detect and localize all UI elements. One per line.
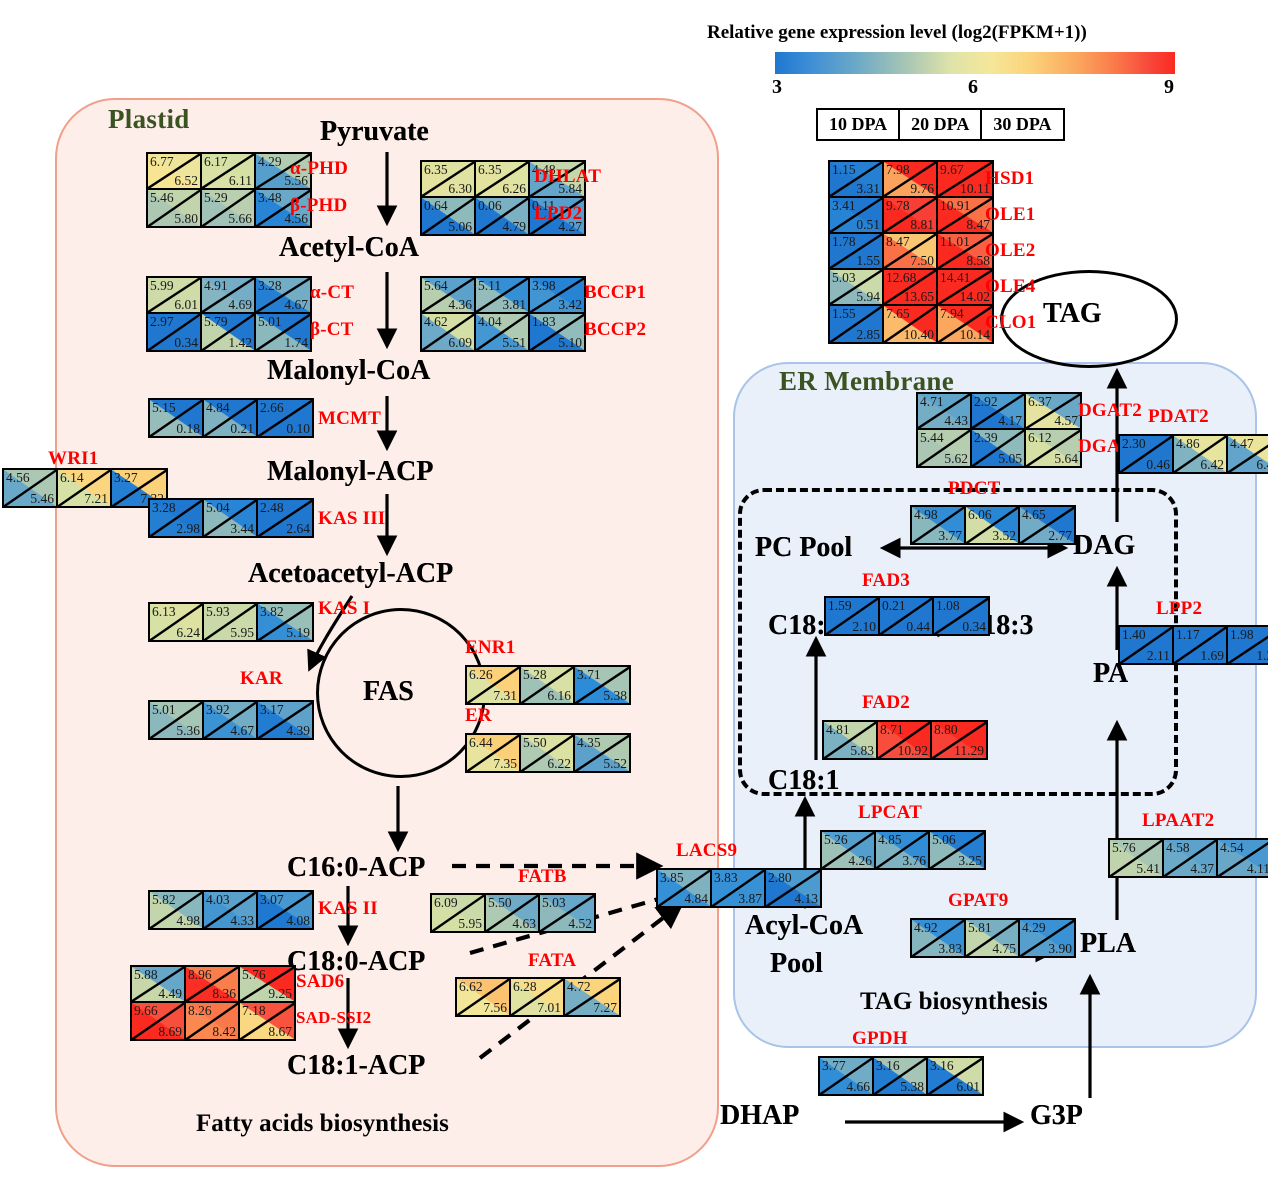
cell-value-lower: 0.46	[1146, 457, 1170, 472]
heatmap-block-ct[interactable]: 5.996.014.914.693.284.672.970.345.791.42…	[146, 276, 312, 352]
heatmap-cell[interactable]: 4.544.11	[1218, 840, 1268, 876]
heatmap-cell[interactable]: 8.7110.92	[878, 722, 932, 758]
cell-value-upper: 1.17	[1176, 627, 1200, 642]
heatmap-cell[interactable]: 3.174.39	[258, 702, 312, 738]
heatmap-row: 5.264.264.853.765.063.25	[822, 832, 984, 868]
cell-value-lower: 6.09	[448, 335, 472, 350]
heatmap-cell[interactable]: 7.6510.40	[884, 306, 938, 342]
cell-value-lower: 3.42	[558, 297, 582, 312]
cell-value-upper: 3.48	[258, 190, 282, 205]
cell-value-upper: 9.66	[134, 1003, 158, 1018]
cell-value-upper: 5.99	[150, 278, 174, 293]
cell-value-upper: 4.86	[1176, 436, 1200, 451]
cell-value-lower: 6.49	[1256, 457, 1268, 472]
heatmap-block-fad2[interactable]: 4.815.838.7110.928.8011.29	[822, 720, 988, 760]
metabolite-acyl-coa: Acyl-CoA	[745, 910, 863, 942]
heatmap-grid: 5.150.184.840.212.660.10	[148, 398, 314, 438]
cell-value-lower: 0.10	[286, 421, 310, 436]
cell-value-upper: 4.85	[878, 832, 902, 847]
heatmap-cell[interactable]: 0.645.06	[422, 198, 476, 234]
heatmap-block-wri1[interactable]: 4.565.466.147.213.277.32	[2, 468, 168, 508]
stage-cell-30dpa: 30 DPA	[982, 110, 1062, 139]
heatmap-cell[interactable]: 1.080.34	[934, 598, 988, 634]
heatmap-cell[interactable]: 5.506.22	[521, 735, 575, 771]
heatmap-cell[interactable]: 3.924.67	[204, 702, 258, 738]
cell-value-upper: 12.68	[886, 270, 916, 285]
heatmap-cell[interactable]: 5.814.75	[966, 920, 1020, 956]
cell-value-upper: 5.01	[152, 702, 176, 717]
cell-value-upper: 3.82	[260, 604, 284, 619]
cell-value-upper: 5.15	[152, 400, 176, 415]
heatmap-cell[interactable]: 4.034.33	[204, 892, 258, 928]
heatmap-cell[interactable]: 4.923.83	[912, 920, 966, 956]
metabolite-c18-1-acp: C18:1-ACP	[287, 1050, 425, 1082]
heatmap-cell[interactable]: 2.482.64	[258, 500, 312, 536]
heatmap-block-dgat[interactable]: 4.714.432.924.176.374.575.445.622.395.05…	[916, 392, 1082, 468]
heatmap-cell[interactable]: 4.853.76	[876, 832, 930, 868]
cell-value-upper: 3.17	[260, 702, 284, 717]
gene-label-phd: β-PHD	[290, 195, 347, 217]
cell-value-upper: 8.71	[880, 722, 904, 737]
heatmap-cell[interactable]: 7.989.76	[884, 162, 938, 198]
heatmap-cell[interactable]: 4.652.77	[1020, 507, 1074, 543]
cell-value-upper: 2.48	[260, 500, 284, 515]
cell-value-upper: 6.17	[204, 154, 228, 169]
heatmap-cell[interactable]: 6.063.52	[966, 507, 1020, 543]
stage-cell-20dpa: 20 DPA	[900, 110, 982, 139]
cell-value-lower: 1.69	[1200, 648, 1224, 663]
cell-value-lower: 3.25	[958, 853, 982, 868]
heatmap-cell[interactable]: 7.188.67	[240, 1003, 294, 1039]
cell-value-lower: 5.52	[603, 756, 627, 771]
cell-value-upper: 4.92	[914, 920, 938, 935]
heatmap-cell[interactable]: 3.166.01	[928, 1058, 982, 1094]
cell-value-upper: 11.01	[940, 234, 970, 249]
heatmap-cell[interactable]: 4.626.09	[422, 314, 476, 350]
heatmap-row: 2.970.345.791.425.011.74	[148, 314, 310, 350]
cell-value-lower: 4.43	[944, 413, 968, 428]
heatmap-cell[interactable]: 5.113.81	[476, 278, 530, 314]
cell-value-lower: 3.52	[992, 528, 1016, 543]
metabolite-pla: PLA	[1080, 928, 1136, 960]
heatmap-block-lpcat[interactable]: 5.264.264.853.765.063.25	[820, 830, 986, 870]
cell-value-lower: 1.74	[284, 335, 308, 350]
heatmap-cell[interactable]: 5.286.16	[521, 667, 575, 703]
heatmap-cell[interactable]: 4.727.27	[565, 979, 619, 1015]
metabolite-dhap: DHAP	[720, 1100, 799, 1132]
heatmap-grid: 1.402.111.171.691.981.24	[1118, 625, 1268, 665]
cell-value-lower: 4.11	[1247, 861, 1268, 876]
heatmap-block-lpp2[interactable]: 1.402.111.171.691.981.24	[1118, 625, 1268, 665]
heatmap-cell[interactable]: 2.924.17	[972, 394, 1026, 430]
cell-value-lower: 5.10	[558, 335, 582, 350]
gene-label-sad6: SAD6	[296, 971, 344, 993]
heatmap-cell[interactable]: 1.835.10	[530, 314, 584, 350]
gene-label-ct: β-CT	[310, 319, 354, 341]
heatmap-cell[interactable]: 4.355.52	[575, 735, 629, 771]
cell-value-upper: 6.09	[434, 895, 458, 910]
cell-value-upper: 3.41	[832, 198, 856, 213]
heatmap-grid: 4.714.432.924.176.374.575.445.622.395.05…	[916, 392, 1082, 468]
cell-value-lower: 4.84	[684, 891, 708, 906]
cell-value-lower: 1.24	[1256, 648, 1268, 663]
heatmap-cell[interactable]: 5.295.66	[202, 190, 256, 226]
heatmap-block-fatb[interactable]: 6.095.955.504.635.034.52	[430, 893, 596, 933]
heatmap-cell[interactable]: 3.282.98	[150, 500, 204, 536]
cell-value-lower: 5.46	[30, 491, 54, 506]
cell-value-lower: 8.69	[158, 1024, 182, 1039]
heatmap-grid: 6.447.355.506.224.355.52	[465, 733, 631, 773]
cell-value-lower: 5.94	[856, 289, 880, 304]
cell-value-upper: 5.76	[1112, 840, 1136, 855]
cell-value-lower: 4.52	[568, 916, 592, 931]
heatmap-cell[interactable]: 6.356.26	[476, 162, 530, 198]
gene-label-fata: FATA	[528, 950, 576, 972]
heatmap-cell[interactable]: 6.447.35	[467, 735, 521, 771]
cell-value-lower: 5.06	[448, 219, 472, 234]
cell-value-upper: 0.21	[882, 598, 906, 613]
heatmap-cell[interactable]: 3.715.38	[575, 667, 629, 703]
heatmap-cell[interactable]: 7.9410.14	[938, 306, 992, 342]
cell-value-upper: 5.82	[152, 892, 176, 907]
heatmap-cell[interactable]: 5.884.49	[132, 967, 186, 1003]
stage-legend-table: 10 DPA 20 DPA 30 DPA	[816, 108, 1065, 141]
heatmap-block-fad3[interactable]: 1.592.100.210.441.080.34	[824, 596, 990, 636]
colorbar-tick-min: 3	[772, 76, 782, 99]
heatmap-cell[interactable]: 1.552.85	[830, 306, 884, 342]
heatmap-cell[interactable]: 4.476.49	[1228, 436, 1268, 472]
heatmap-grid: 5.884.498.968.365.769.259.668.698.268.42…	[130, 965, 296, 1041]
heatmap-cell[interactable]: 5.824.98	[150, 892, 204, 928]
cell-value-lower: 6.52	[174, 173, 198, 188]
heatmap-cell[interactable]: 4.714.43	[918, 394, 972, 430]
cell-value-upper: 1.08	[936, 598, 960, 613]
heatmap-cell[interactable]: 6.125.64	[1026, 430, 1080, 466]
gene-label-kas-iii: KAS III	[318, 508, 385, 530]
legend-title: Relative gene expression level (log2(FPK…	[707, 22, 1087, 44]
heatmap-row: 5.150.184.840.212.660.10	[150, 400, 312, 436]
cell-value-upper: 4.71	[920, 394, 944, 409]
cell-value-upper: 0.06	[478, 198, 502, 213]
heatmap-cell[interactable]: 5.264.26	[822, 832, 876, 868]
heatmap-cell[interactable]: 5.063.25	[930, 832, 984, 868]
cell-value-upper: 6.37	[1028, 394, 1052, 409]
heatmap-row: 4.714.432.924.176.374.57	[918, 394, 1080, 430]
cell-value-lower: 7.35	[493, 756, 517, 771]
heatmap-row: 5.884.498.968.365.769.25	[132, 967, 294, 1003]
heatmap-block-gpat9[interactable]: 4.923.835.814.754.293.90	[910, 918, 1076, 958]
heatmap-cell[interactable]: 9.668.69	[132, 1003, 186, 1039]
cell-value-upper: 1.59	[828, 598, 852, 613]
heatmap-cell[interactable]: 6.287.01	[511, 979, 565, 1015]
heatmap-block-lpaat2[interactable]: 5.765.414.584.374.544.11	[1108, 838, 1268, 878]
heatmap-grid: 2.300.464.866.424.476.49	[1118, 434, 1268, 474]
heatmap-block-kar[interactable]: 5.015.363.924.673.174.39	[148, 700, 314, 740]
heatmap-cell[interactable]: 3.284.67	[256, 278, 310, 314]
heatmap-block-mcmt[interactable]: 5.150.184.840.212.660.10	[148, 398, 314, 438]
heatmap-cell[interactable]: 1.171.69	[1174, 627, 1228, 663]
heatmap-cell[interactable]: 3.074.08	[258, 892, 312, 928]
gene-label-bccp2: BCCP2	[584, 319, 646, 341]
heatmap-block-lacs9[interactable]: 3.854.843.833.872.804.13	[656, 868, 822, 908]
heatmap-block-kas3[interactable]: 3.282.985.043.442.482.64	[148, 498, 314, 538]
heatmap-row: 3.282.985.043.442.482.64	[150, 500, 312, 536]
gene-label-fatb: FATB	[518, 866, 567, 888]
gene-label-gpdh: GPDH	[852, 1028, 908, 1050]
gene-label-lacs9: LACS9	[676, 840, 737, 862]
heatmap-cell[interactable]: 1.981.24	[1228, 627, 1268, 663]
cell-value-lower: 4.67	[230, 723, 254, 738]
heatmap-cell[interactable]: 9.788.81	[884, 198, 938, 234]
cell-value-lower: 5.66	[228, 211, 252, 226]
heatmap-cell[interactable]: 2.660.10	[258, 400, 312, 436]
heatmap-row: 5.765.414.584.374.544.11	[1110, 840, 1268, 876]
heatmap-row: 3.854.843.833.872.804.13	[658, 870, 820, 906]
heatmap-cell[interactable]: 6.374.57	[1026, 394, 1080, 430]
heatmap-block-sad[interactable]: 5.884.498.968.365.769.259.668.698.268.42…	[130, 965, 296, 1041]
metabolite-malonyl-coa: Malonyl-CoA	[267, 355, 430, 387]
heatmap-block-pdat2[interactable]: 2.300.464.866.424.476.49	[1118, 434, 1268, 474]
heatmap-cell[interactable]: 4.866.42	[1174, 436, 1228, 472]
heatmap-cell[interactable]: 4.584.37	[1164, 840, 1218, 876]
heatmap-row: 5.644.365.113.813.983.42	[422, 278, 584, 314]
heatmap-cell[interactable]: 5.644.36	[422, 278, 476, 314]
cell-value-upper: 5.29	[204, 190, 228, 205]
cell-value-upper: 4.47	[1230, 436, 1254, 451]
cell-value-lower: 6.01	[174, 297, 198, 312]
cell-value-upper: 4.56	[6, 470, 30, 485]
heatmap-cell[interactable]: 6.267.31	[467, 667, 521, 703]
gene-label-ole4: OLE4	[985, 276, 1035, 298]
heatmap-block-phd[interactable]: 6.776.526.176.114.295.565.465.805.295.66…	[146, 152, 312, 228]
cell-value-upper: 4.04	[478, 314, 502, 329]
heatmap-cell[interactable]: 2.395.05	[972, 430, 1026, 466]
gene-label-ct: α-CT	[310, 282, 354, 304]
heatmap-cell[interactable]: 8.968.36	[186, 967, 240, 1003]
cell-value-upper: 4.81	[826, 722, 850, 737]
heatmap-block-er[interactable]: 6.447.355.506.224.355.52	[465, 733, 631, 773]
heatmap-grid: 3.282.985.043.442.482.64	[148, 498, 314, 538]
cell-value-lower: 5.83	[850, 743, 874, 758]
heatmap-cell[interactable]: 1.781.55	[830, 234, 884, 270]
cell-value-lower: 5.36	[176, 723, 200, 738]
cell-value-lower: 6.24	[176, 625, 200, 640]
cell-value-lower: 7.50	[910, 253, 934, 268]
metabolite-dag: DAG	[1073, 530, 1135, 562]
heatmap-cell[interactable]: 5.043.44	[204, 500, 258, 536]
cell-value-upper: 0.64	[424, 198, 448, 213]
metabolite-c16-0-acp: C16:0-ACP	[287, 852, 425, 884]
heatmap-cell[interactable]: 5.791.42	[202, 314, 256, 350]
heatmap-cell[interactable]: 0.064.79	[476, 198, 530, 234]
heatmap-cell[interactable]: 5.150.18	[150, 400, 204, 436]
heatmap-cell[interactable]: 2.300.46	[1120, 436, 1174, 472]
heatmap-cell[interactable]: 4.565.46	[4, 470, 58, 506]
heatmap-row: 5.035.9412.6813.6514.4114.02	[830, 270, 992, 306]
cell-value-upper: 5.93	[206, 604, 230, 619]
heatmap-row: 9.668.698.268.427.188.67	[132, 1003, 294, 1039]
heatmap-row: 5.445.622.395.056.125.64	[918, 430, 1080, 466]
heatmap-row: 6.095.955.504.635.034.52	[432, 895, 594, 931]
heatmap-cell[interactable]: 4.293.90	[1020, 920, 1074, 956]
heatmap-cell[interactable]: 4.914.69	[202, 278, 256, 314]
heatmap-cell[interactable]: 1.153.31	[830, 162, 884, 198]
cell-value-lower: 4.75	[992, 941, 1016, 956]
cell-value-upper: 6.06	[968, 507, 992, 522]
heatmap-cell[interactable]: 14.4114.02	[938, 270, 992, 306]
gene-label-pdat2: PDAT2	[1148, 406, 1209, 428]
cell-value-upper: 2.66	[260, 400, 284, 415]
heatmap-block-oilbody[interactable]: 1.153.317.989.769.6710.113.410.519.788.8…	[828, 160, 994, 344]
cell-value-lower: 4.36	[448, 297, 472, 312]
heatmap-cell[interactable]: 3.983.42	[530, 278, 584, 314]
heatmap-cell[interactable]: 3.774.66	[820, 1058, 874, 1094]
cell-value-upper: 5.11	[478, 278, 501, 293]
heatmap-cell[interactable]: 5.465.80	[148, 190, 202, 226]
heatmap-cell[interactable]: 6.136.24	[150, 604, 204, 640]
heatmap-cell[interactable]: 5.015.36	[150, 702, 204, 738]
heatmap-cell[interactable]: 8.477.50	[884, 234, 938, 270]
heatmap-cell[interactable]: 6.095.95	[432, 895, 486, 931]
cell-value-lower: 5.95	[230, 625, 254, 640]
heatmap-row: 1.781.558.477.5011.018.58	[830, 234, 992, 270]
heatmap-grid: 1.592.100.210.441.080.34	[824, 596, 990, 636]
cell-value-upper: 8.80	[934, 722, 958, 737]
heatmap-cell[interactable]: 8.268.42	[186, 1003, 240, 1039]
heatmap-cell[interactable]: 6.147.21	[58, 470, 112, 506]
cell-value-lower: 5.38	[603, 688, 627, 703]
cell-value-upper: 4.65	[1022, 507, 1046, 522]
heatmap-block-kas2[interactable]: 5.824.984.034.333.074.08	[148, 890, 314, 930]
heatmap-cell[interactable]: 3.833.87	[712, 870, 766, 906]
cell-value-lower: 8.81	[910, 217, 934, 232]
heatmap-cell[interactable]: 4.815.83	[824, 722, 878, 758]
gene-label-fad3: FAD3	[862, 570, 910, 592]
heatmap-cell[interactable]: 6.776.52	[148, 154, 202, 190]
heatmap-cell[interactable]: 6.176.11	[202, 154, 256, 190]
heatmap-cell[interactable]: 8.8011.29	[932, 722, 986, 758]
metabolite-acyl-coa-pool: Pool	[770, 948, 823, 980]
heatmap-grid: 1.153.317.989.769.6710.113.410.519.788.8…	[828, 160, 994, 344]
cell-value-lower: 3.81	[502, 297, 526, 312]
cell-value-lower: 5.41	[1136, 861, 1160, 876]
heatmap-cell[interactable]: 4.045.51	[476, 314, 530, 350]
heatmap-cell[interactable]: 1.402.11	[1120, 627, 1174, 663]
cell-value-upper: 2.39	[974, 430, 998, 445]
cell-value-lower: 4.98	[176, 913, 200, 928]
heatmap-grid: 5.015.363.924.673.174.39	[148, 700, 314, 740]
heatmap-grid: 6.627.566.287.014.727.27	[455, 977, 621, 1017]
heatmap-cell[interactable]: 4.983.77	[912, 507, 966, 543]
cell-value-lower: 4.66	[846, 1079, 870, 1094]
heatmap-cell[interactable]: 5.996.01	[148, 278, 202, 314]
heatmap-row: 4.923.835.814.754.293.90	[912, 920, 1074, 956]
cell-value-upper: 3.85	[660, 870, 684, 885]
heatmap-block-bccp[interactable]: 5.644.365.113.813.983.424.626.094.045.51…	[420, 276, 586, 352]
heatmap-block-enr1[interactable]: 6.267.315.286.163.715.38	[465, 665, 631, 705]
cell-value-lower: 6.01	[956, 1079, 980, 1094]
cell-value-upper: 8.26	[188, 1003, 212, 1018]
cell-value-lower: 4.79	[502, 219, 526, 234]
cell-value-lower: 9.76	[910, 181, 934, 196]
cell-value-lower: 4.63	[512, 916, 536, 931]
heatmap-cell[interactable]: 5.011.74	[256, 314, 310, 350]
heatmap-cell[interactable]: 2.804.13	[766, 870, 820, 906]
heatmap-cell[interactable]: 4.840.21	[204, 400, 258, 436]
cell-value-upper: 5.81	[968, 920, 992, 935]
fatty-acid-biosynthesis-label: Fatty acids biosynthesis	[196, 1110, 449, 1138]
heatmap-cell[interactable]: 5.035.94	[830, 270, 884, 306]
heatmap-cell[interactable]: 0.210.44	[880, 598, 934, 634]
cell-value-lower: 2.11	[1147, 648, 1170, 663]
heatmap-cell[interactable]: 11.018.58	[938, 234, 992, 270]
cell-value-upper: 3.77	[822, 1058, 846, 1073]
heatmap-cell[interactable]: 5.034.52	[540, 895, 594, 931]
heatmap-block-kas1[interactable]: 6.136.245.935.953.825.19	[148, 602, 314, 642]
cell-value-lower: 2.98	[176, 521, 200, 536]
cell-value-lower: 3.87	[738, 891, 762, 906]
cell-value-lower: 3.77	[938, 528, 962, 543]
cell-value-upper: 3.07	[260, 892, 284, 907]
heatmap-block-pdct[interactable]: 4.983.776.063.524.652.77	[910, 505, 1076, 545]
cell-value-upper: 3.16	[876, 1058, 900, 1073]
heatmap-cell[interactable]: 3.854.84	[658, 870, 712, 906]
cell-value-lower: 5.51	[502, 335, 526, 350]
cell-value-lower: 6.30	[448, 181, 472, 196]
heatmap-cell[interactable]: 10.918.47	[938, 198, 992, 234]
heatmap-row: 5.996.014.914.693.284.67	[148, 278, 310, 314]
heatmap-cell[interactable]: 5.765.41	[1110, 840, 1164, 876]
cell-value-upper: 5.50	[523, 735, 547, 750]
heatmap-cell[interactable]: 6.356.30	[422, 162, 476, 198]
cell-value-upper: 6.12	[1028, 430, 1052, 445]
cell-value-upper: 4.91	[204, 278, 228, 293]
cell-value-upper: 4.29	[1022, 920, 1046, 935]
heatmap-cell[interactable]: 2.970.34	[148, 314, 202, 350]
heatmap-row: 3.410.519.788.8110.918.47	[830, 198, 992, 234]
gene-label-kas-ii: KAS II	[318, 898, 378, 920]
heatmap-cell[interactable]: 3.165.38	[874, 1058, 928, 1094]
heatmap-cell[interactable]: 3.825.19	[258, 604, 312, 640]
cell-value-upper: 6.14	[60, 470, 84, 485]
cell-value-lower: 2.10	[852, 619, 876, 634]
cell-value-lower: 4.08	[286, 913, 310, 928]
heatmap-cell[interactable]: 3.410.51	[830, 198, 884, 234]
cell-value-upper: 3.28	[152, 500, 176, 515]
cell-value-upper: 4.98	[914, 507, 938, 522]
stage-cell-10dpa: 10 DPA	[818, 110, 900, 139]
heatmap-cell[interactable]: 5.445.62	[918, 430, 972, 466]
heatmap-block-gpdh[interactable]: 3.774.663.165.383.166.01	[818, 1056, 984, 1096]
cell-value-upper: 1.15	[832, 162, 856, 177]
gene-label-lpd2: LPD2	[534, 203, 582, 225]
heatmap-cell[interactable]: 5.935.95	[204, 604, 258, 640]
heatmap-cell[interactable]: 5.769.25	[240, 967, 294, 1003]
heatmap-block-fata[interactable]: 6.627.566.287.014.727.27	[455, 977, 621, 1017]
heatmap-cell[interactable]: 5.504.63	[486, 895, 540, 931]
heatmap-cell[interactable]: 9.6710.11	[938, 162, 992, 198]
cell-value-upper: 6.28	[513, 979, 537, 994]
heatmap-row: 6.627.566.287.014.727.27	[457, 979, 619, 1015]
gene-label-clo1: CLO1	[985, 312, 1036, 334]
heatmap-cell[interactable]: 6.627.56	[457, 979, 511, 1015]
heatmap-cell[interactable]: 12.6813.65	[884, 270, 938, 306]
cell-value-upper: 8.47	[886, 234, 910, 249]
heatmap-row: 6.447.355.506.224.355.52	[467, 735, 629, 771]
heatmap-cell[interactable]: 1.592.10	[826, 598, 880, 634]
cell-value-upper: 3.16	[930, 1058, 954, 1073]
cell-value-lower: 7.31	[493, 688, 517, 703]
